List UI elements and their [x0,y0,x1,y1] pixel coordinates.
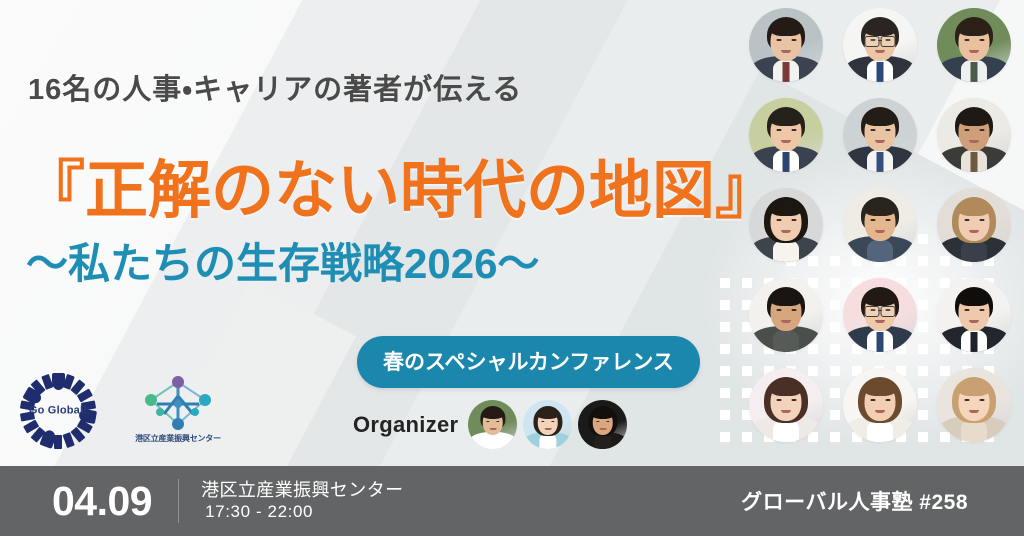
portrait-tie [783,62,790,82]
portrait-face [468,400,517,449]
speaker-photo-grid [745,4,1024,466]
event-series-label: グローバル人事塾 #258 [741,486,968,516]
portrait-mouth [875,320,885,323]
portrait-fringe [958,112,990,126]
portrait-mouth [781,320,791,323]
portrait-mouth [781,140,791,143]
organizer-avatar-list [468,400,627,449]
banner-title-sub: 〜私たちの生存戦略2026〜 [26,230,539,291]
sponsor-logos: Go Global! 港区立産業振興センター [18,372,234,454]
minato-center-logo: 港区立産業振興センター [122,372,234,454]
portrait-mouth [969,320,979,323]
footer-bar: 04.09 港区立産業振興センター 17:30 - 22:00 グローバル人事塾… [0,466,1024,536]
portrait-mouth [875,230,885,233]
go-global-logo: Go Global! [18,372,98,450]
conference-badge: 春のスペシャルカンファレンス [357,336,700,388]
portrait-tie [971,62,978,82]
portrait-glasses-bridge [878,40,882,41]
portrait-tie [783,152,790,172]
portrait-mouth [969,140,979,143]
event-venue-name: 港区立産業振興センター [201,479,403,502]
portrait-tie [877,62,884,82]
portrait-face [843,278,917,352]
portrait-tie [971,332,978,352]
speaker-photo [749,368,823,442]
portrait-face [937,368,1011,442]
speaker-photo [843,368,917,442]
portrait-eye [551,421,554,423]
portrait-mouth [875,50,885,53]
portrait-fringe [770,112,802,126]
portrait-shirt [773,420,799,442]
portrait-fringe [770,202,802,216]
portrait-fringe [864,22,896,36]
portrait-fringe [592,409,613,418]
portrait-fringe [864,112,896,126]
portrait-glasses [881,36,896,47]
portrait-face [578,400,627,449]
organizer-avatar-3 [578,400,627,449]
portrait-face [749,8,823,82]
portrait-face [843,368,917,442]
speaker-photo [749,188,823,262]
portrait-fringe [770,292,802,306]
portrait-fringe [482,409,503,418]
portrait-shirt [773,330,799,352]
minato-center-logo-label: 港区立産業振興センター [122,433,234,444]
portrait-shirt [539,434,556,449]
portrait-face [749,98,823,172]
event-venue-block: 港区立産業振興センター 17:30 - 22:00 [201,479,403,524]
portrait-tie [971,152,978,172]
portrait-mouth [781,410,791,413]
portrait-fringe [864,382,896,396]
portrait-face [843,188,917,262]
portrait-face [843,8,917,82]
portrait-eye [496,421,499,423]
portrait-mouth [600,428,607,430]
portrait-mouth [969,230,979,233]
go-global-logo-label: Go Global! [18,404,98,416]
speaker-photo [937,8,1011,82]
event-time: 17:30 - 22:00 [201,501,403,523]
portrait-glasses-bridge [878,310,882,311]
portrait-mouth [969,50,979,53]
speaker-photo [937,98,1011,172]
portrait-face [749,188,823,262]
portrait-fringe [864,292,896,306]
organizer-avatar-2 [523,400,572,449]
portrait-shirt [773,240,799,262]
portrait-mouth [545,428,552,430]
portrait-fringe [770,22,802,36]
portrait-tie [877,152,884,172]
portrait-mouth [781,230,791,233]
speaker-photo [749,278,823,352]
portrait-tie [877,332,884,352]
organizer-label: Organizer [353,412,458,438]
portrait-fringe [770,382,802,396]
portrait-shirt [594,434,611,449]
portrait-mouth [875,140,885,143]
portrait-fringe [958,382,990,396]
portrait-glasses [865,306,880,317]
speaker-photo [843,8,917,82]
portrait-mouth [875,410,885,413]
portrait-mouth [490,428,497,430]
portrait-face [749,278,823,352]
portrait-face [937,278,1011,352]
speaker-photo [749,8,823,82]
portrait-fringe [537,409,558,418]
portrait-face [937,8,1011,82]
portrait-face [843,98,917,172]
portrait-shirt [867,420,893,442]
portrait-fringe [958,202,990,216]
speaker-photo [843,278,917,352]
organizer-avatar-1 [468,400,517,449]
portrait-face [937,98,1011,172]
portrait-eye [486,421,489,423]
portrait-eye [541,421,544,423]
speaker-photo [937,368,1011,442]
network-node-icon [137,374,219,432]
speaker-photo [843,188,917,262]
speaker-photo [937,278,1011,352]
portrait-mouth [969,410,979,413]
portrait-fringe [864,202,896,216]
portrait-shirt [961,240,987,262]
portrait-face [749,368,823,442]
event-banner: 16名の人事・キャリアの著者が伝える 『正解のない時代の地図』 〜私たちの生存戦… [0,0,1024,536]
footer-divider [178,479,179,523]
portrait-fringe [958,22,990,36]
portrait-shirt [961,420,987,442]
portrait-mouth [781,50,791,53]
organizer-block: Organizer [353,400,627,449]
speaker-photo [937,188,1011,262]
portrait-glasses [881,306,896,317]
portrait-eye [596,421,599,423]
banner-subhead: 16名の人事・キャリアの著者が伝える [28,66,522,108]
portrait-face [937,188,1011,262]
portrait-eye [606,421,609,423]
speaker-photo [843,98,917,172]
portrait-fringe [958,292,990,306]
event-date: 04.09 [52,481,152,522]
speaker-photo [749,98,823,172]
portrait-glasses [865,36,880,47]
banner-title-main: 『正解のない時代の地図』 [22,140,778,231]
portrait-shirt [867,240,893,262]
portrait-shirt [484,434,501,449]
portrait-face [523,400,572,449]
